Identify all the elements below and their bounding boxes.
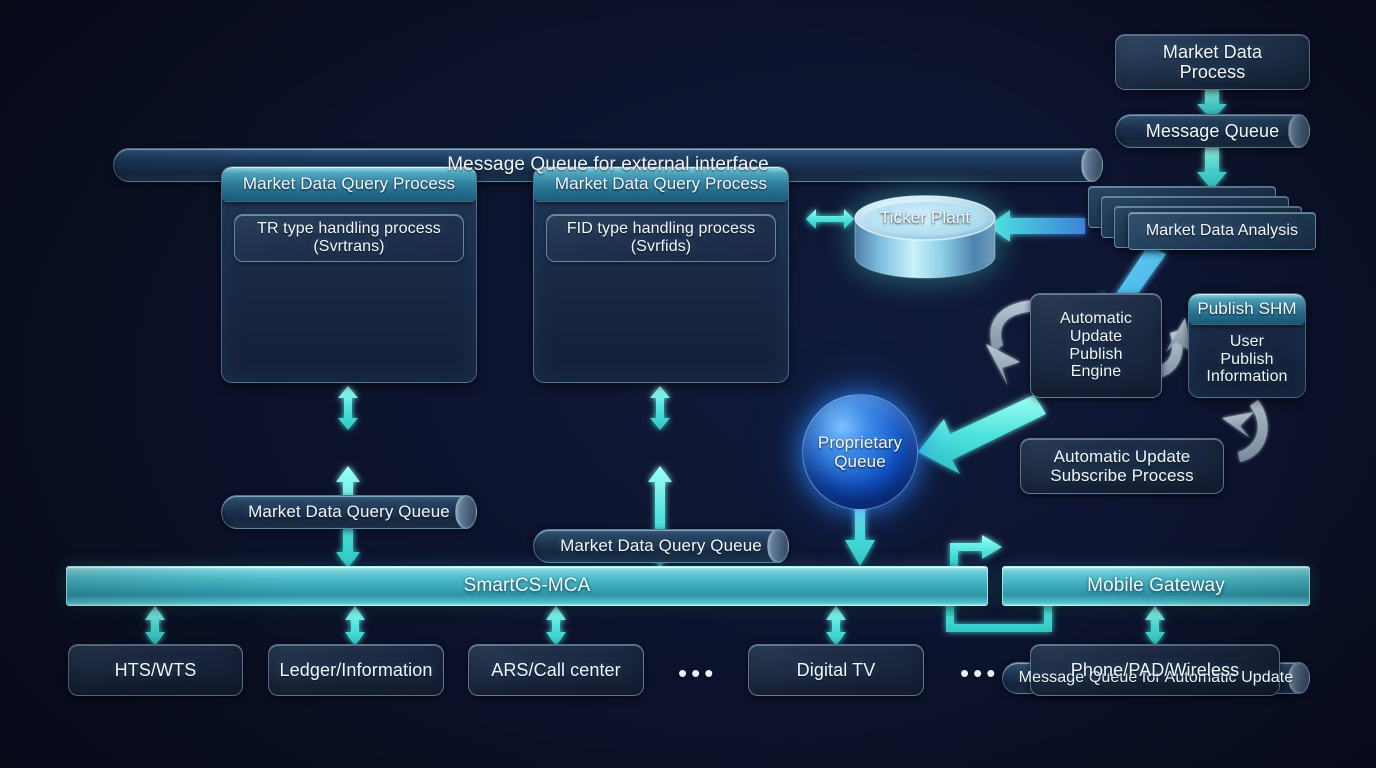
smartcs-mca-label: SmartCS-MCA: [464, 575, 591, 596]
gray-arrow-shm-to-subscribe: [1238, 400, 1268, 462]
queue-end-cap-icon: [767, 529, 789, 563]
node-proprietary-queue[interactable]: Proprietary Queue: [802, 394, 918, 510]
arrow-gateway-phone: [1145, 606, 1165, 646]
queue-end-cap-icon: [1288, 114, 1310, 148]
node-mobile-gateway[interactable]: Mobile Gateway: [1002, 566, 1310, 606]
queue-end-cap-icon: [455, 495, 477, 529]
publish-shm-body-label: User Publish Information: [1206, 333, 1287, 387]
client-label: Phone/PAD/Wireless: [1071, 660, 1240, 680]
query-process-right-header-label: Market Data Query Process: [555, 174, 767, 193]
node-market-data-analysis-stack[interactable]: Market Data Analysis: [1088, 186, 1328, 248]
query-process-left-header: Market Data Query Process: [222, 167, 476, 202]
client-label: HTS/WTS: [115, 660, 197, 680]
query-process-right-body: FID type handling process (Svrfids): [534, 202, 788, 383]
gray-arrow-shm-to-subscribe-head: [1222, 412, 1254, 438]
subprocess-fid-type-label: FID type handling process (Svrfids): [567, 220, 755, 256]
message-queue-external-label: Message Queue for external interface: [447, 154, 769, 175]
arrow-smartcs-ledger: [345, 606, 365, 646]
node-automatic-update-publish-engine[interactable]: Automatic Update Publish Engine: [1030, 293, 1162, 398]
node-market-data-process[interactable]: Market Data Process: [1115, 34, 1310, 90]
publish-shm-body: User Publish Information: [1189, 325, 1305, 394]
node-client-ledger-information[interactable]: Ledger/Information: [268, 644, 444, 696]
gray-arrow-engine-loop-head: [986, 344, 1020, 386]
client-label: ARS/Call center: [491, 660, 621, 680]
ticker-plant-label: Ticker Plant: [852, 208, 998, 227]
arrow-smartcs-digitaltv: [826, 606, 846, 646]
query-process-left-body: TR type handling process (Svrtrans): [222, 202, 476, 383]
analysis-stack-front[interactable]: Market Data Analysis: [1128, 212, 1316, 250]
market-data-process-label: Market Data Process: [1163, 42, 1262, 82]
node-query-queue-right[interactable]: Market Data Query Queue: [533, 529, 789, 563]
query-process-left-header-label: Market Data Query Process: [243, 174, 455, 193]
publish-shm-header-label: Publish SHM: [1197, 299, 1296, 318]
arrow-tickerplant-fid: [806, 209, 854, 229]
ellipsis-clients-2: •••: [960, 660, 999, 686]
node-query-process-left[interactable]: Market Data Query Process TR type handli…: [221, 166, 477, 383]
publish-shm-header: Publish SHM: [1189, 294, 1305, 325]
node-query-process-right[interactable]: Market Data Query Process FID type handl…: [533, 166, 789, 383]
arrow-analysis-to-tickerplant: [988, 210, 1085, 242]
node-client-ars-call-center[interactable]: ARS/Call center: [468, 644, 644, 696]
ticker-plant-cylinder-icon: [852, 192, 998, 284]
arrow-left-process-queue: [338, 386, 358, 430]
arrow-smartcs-hts: [145, 606, 165, 646]
node-publish-shm[interactable]: Publish SHM User Publish Information: [1188, 293, 1306, 398]
proprietary-queue-label: Proprietary Queue: [818, 433, 902, 471]
architecture-diagram: Market Data Process Message Queue Messag…: [0, 0, 1376, 768]
node-automatic-update-subscribe-process[interactable]: Automatic Update Subscribe Process: [1020, 438, 1224, 494]
client-label: Digital TV: [797, 660, 876, 680]
arrow-right-process-queue: [650, 386, 670, 430]
node-ticker-plant[interactable]: Ticker Plant: [852, 192, 998, 284]
query-queue-right-label: Market Data Query Queue: [560, 536, 762, 555]
node-query-queue-left[interactable]: Market Data Query Queue: [221, 495, 477, 529]
node-client-hts-wts[interactable]: HTS/WTS: [68, 644, 243, 696]
queue-end-cap-icon: [1081, 148, 1103, 182]
mobile-gateway-label: Mobile Gateway: [1087, 575, 1225, 596]
message-queue-label: Message Queue: [1146, 121, 1279, 141]
market-data-analysis-label: Market Data Analysis: [1146, 222, 1298, 240]
arrow-mq-to-analysis: [1197, 148, 1227, 190]
node-smartcs-mca[interactable]: SmartCS-MCA: [66, 566, 988, 606]
subprocess-tr-type-label: TR type handling process (Svrtrans): [257, 220, 441, 256]
subprocess-tr-type[interactable]: TR type handling process (Svrtrans): [234, 214, 464, 262]
client-label: Ledger/Information: [280, 660, 433, 680]
subprocess-fid-type[interactable]: FID type handling process (Svrfids): [546, 214, 776, 262]
elbow-to-mq-automatic-update: [950, 535, 1002, 568]
arrow-smartcs-ars: [546, 606, 566, 646]
ellipsis-clients-1: •••: [678, 660, 717, 686]
query-queue-left-label: Market Data Query Queue: [248, 502, 450, 521]
node-message-queue[interactable]: Message Queue: [1115, 114, 1310, 148]
subscribe-process-label: Automatic Update Subscribe Process: [1050, 447, 1193, 485]
node-client-digital-tv[interactable]: Digital TV: [748, 644, 924, 696]
publish-engine-label: Automatic Update Publish Engine: [1060, 310, 1132, 382]
